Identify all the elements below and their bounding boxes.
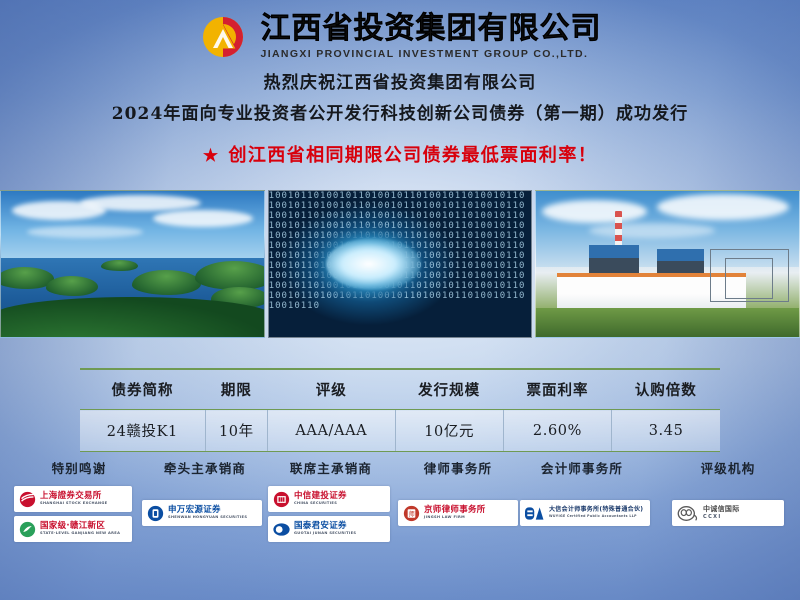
cell-rating: AAA/AAA [268, 410, 395, 452]
logo-text: 上海證券交易所 SHANGHAI STOCK EXCHANGE [40, 492, 107, 506]
company-name-en: JIANGXI PROVINCIAL INVESTMENT GROUP CO.,… [261, 49, 602, 60]
column-header: 债券简称 [80, 369, 205, 410]
logo-name-en: STATE-LEVEL GANJIANG NEW AREA [40, 532, 120, 536]
partner-logos: 上海證券交易所 SHANGHAI STOCK EXCHANGE 国家级·赣江新区… [0, 486, 800, 554]
logo-name-cn: 京师律师事务所 [424, 506, 486, 515]
logo-name-cn: 中诚信国际 [703, 506, 740, 513]
logo-name-en: CHINA SECURITIES [294, 502, 347, 506]
island-shape [132, 270, 200, 295]
logo-name-cn: 上海證券交易所 [40, 492, 107, 501]
citic-mark-icon [273, 491, 290, 508]
logo-name-en: GUOTAI JUNAN SECURITIES [294, 532, 356, 536]
cpa-mark-icon [525, 506, 545, 521]
headline-line-2: 2024年面向专业投资者公开发行科技创新公司债券（第一期）成功发行 [0, 101, 800, 128]
ccxi-mark-icon [677, 505, 699, 522]
highlight-line: ★创江西省相同期限公司债券最低票面利率！ [0, 141, 800, 167]
column-header: 期限 [205, 369, 267, 410]
foreground-trees [0, 297, 265, 338]
ganjiang-new-area-logo: 国家级·赣江新区 STATE-LEVEL GANJIANG NEW AREA [14, 516, 132, 542]
china-securities-logo: 中信建投证券 CHINA SECURITIES [268, 486, 390, 512]
boiler-block [657, 249, 704, 261]
jingsh-mark-icon: 师 [403, 505, 420, 522]
boiler-block [589, 245, 639, 258]
logo-name-cn: 国泰君安证券 [294, 522, 356, 531]
swhy-mark-icon [147, 505, 164, 522]
jiangxi-investment-group-emblem-icon [199, 15, 247, 59]
logo-name-en: WUYIGE Certified Public Accountants LLP [549, 515, 643, 518]
gtja-mark-icon [273, 521, 290, 538]
partner-label-special-thanks: 特别鸣谢 [14, 458, 144, 477]
guotai-junan-securities-logo: 国泰君安证券 GUOTAI JUNAN SECURITIES [268, 516, 390, 542]
cloud-shape [589, 223, 715, 238]
logo-name-cn: 申万宏源证券 [168, 506, 247, 515]
logo-name-cn: 国家级·赣江新区 [40, 522, 120, 531]
sse-mark-icon [19, 491, 36, 508]
table-header-row: 债券简称 期限 评级 发行规模 票面利率 认购倍数 [80, 369, 720, 410]
partners-section: 特别鸣谢 牵头主承销商 联席主承销商 律师事务所 会计师事务所 评级机构 上海證… [0, 458, 800, 558]
ganjiang-mark-icon [19, 521, 36, 538]
shenwan-hongyuan-securities-logo: 申万宏源证券 SHENWAN HONGYUAN SECURITIES [142, 500, 262, 526]
lake-islands-photo [0, 190, 265, 338]
logo-name-cn: 大信会计师事务所(特殊普通合伙) [549, 507, 643, 513]
svg-text:师: 师 [408, 509, 415, 518]
logo-name-en: SHANGHAI STOCK EXCHANGE [40, 502, 107, 506]
island-shape [195, 261, 264, 290]
tunnel-light [326, 238, 421, 291]
shanghai-stock-exchange-logo: 上海證券交易所 SHANGHAI STOCK EXCHANGE [14, 486, 132, 512]
logo-text: 京师律师事务所 JINGSH LAW FIRM [424, 506, 486, 520]
photo-strip: 1001011010010110100101101001011010010110… [0, 190, 800, 338]
logo-text: 申万宏源证券 SHENWAN HONGYUAN SECURITIES [168, 506, 247, 520]
partner-label-lead-underwriter: 牵头主承销商 [140, 458, 270, 477]
logo-name-en: JINGSH LAW FIRM [424, 516, 486, 520]
column-header: 票面利率 [503, 369, 611, 410]
logo-name-en: SHENWAN HONGYUAN SECURITIES [168, 516, 247, 520]
power-plant-photo [535, 190, 800, 338]
partner-label-accounting-firm: 会计师事务所 [508, 458, 656, 477]
headline-block: 热烈庆祝江西省投资集团有限公司 2024年面向专业投资者公开发行科技创新公司债券… [0, 70, 800, 167]
partner-label-rating-agency: 评级机构 [658, 458, 798, 477]
logo-text: 国泰君安证券 GUOTAI JUNAN SECURITIES [294, 522, 356, 536]
company-name-cn: 江西省投资集团有限公司 [261, 14, 602, 44]
cell-coupon-rate: 2.60% [503, 410, 611, 452]
brand-header: 江西省投资集团有限公司 JIANGXI PROVINCIAL INVESTMEN… [0, 8, 800, 66]
cloud-shape [27, 226, 143, 238]
binary-data-tunnel-photo: 1001011010010110100101101001011010010110… [268, 190, 533, 338]
jingsh-law-firm-logo: 师 京师律师事务所 JINGSH LAW FIRM [398, 500, 518, 526]
column-header: 发行规模 [395, 369, 503, 410]
ccxi-rating-agency-logo: 中诚信国际 CCXI [672, 500, 784, 526]
island-shape [101, 260, 138, 272]
headline-line-1: 热烈庆祝江西省投资集团有限公司 [0, 70, 800, 97]
partner-label-law-firm: 律师事务所 [393, 458, 523, 477]
cloud-shape [657, 194, 788, 220]
logo-text: 国家级·赣江新区 STATE-LEVEL GANJIANG NEW AREA [40, 522, 120, 536]
partner-label-joint-underwriter: 联席主承销商 [263, 458, 399, 477]
partner-labels: 特别鸣谢 牵头主承销商 联席主承销商 律师事务所 会计师事务所 评级机构 [0, 458, 800, 482]
column-header: 评级 [268, 369, 395, 410]
ground-layer [536, 308, 799, 337]
logo-text: 中诚信国际 CCXI [703, 506, 740, 520]
cell-subscription-multiple: 3.45 [612, 410, 720, 452]
column-header: 认购倍数 [612, 369, 720, 410]
wuyige-cpa-logo: 大信会计师事务所(特殊普通合伙) WUYIGE Certified Public… [520, 500, 650, 526]
logo-text: 中信建投证券 CHINA SECURITIES [294, 492, 347, 506]
highlight-text: 创江西省相同期限公司债券最低票面利率！ [229, 145, 598, 166]
cell-issue-size: 10亿元 [395, 410, 503, 452]
transmission-tower [725, 258, 772, 299]
logo-name-en: CCXI [703, 515, 740, 520]
table-row: 24赣投K1 10年 AAA/AAA 10亿元 2.60% 3.45 [80, 410, 720, 452]
cell-bond-name: 24赣投K1 [80, 410, 205, 452]
star-icon: ★ [203, 146, 220, 166]
cloud-shape [542, 200, 647, 223]
logo-text: 大信会计师事务所(特殊普通合伙) WUYIGE Certified Public… [549, 507, 643, 518]
island-shape [46, 276, 99, 296]
cell-term: 10年 [205, 410, 267, 452]
logo-name-cn: 中信建投证券 [294, 492, 347, 501]
bond-summary-table: 债券简称 期限 评级 发行规模 票面利率 认购倍数 24赣投K1 10年 AAA… [80, 368, 720, 452]
